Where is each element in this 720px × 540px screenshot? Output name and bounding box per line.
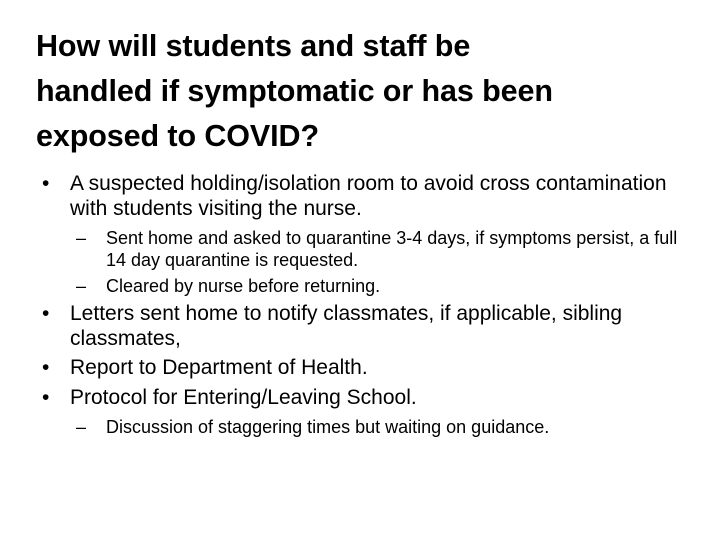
dash-marker-icon: – bbox=[76, 275, 86, 297]
dash-marker-icon: – bbox=[76, 227, 86, 249]
title-line-3: exposed to COVID? bbox=[36, 114, 686, 159]
sub-bullet-list: – Discussion of staggering times but wai… bbox=[70, 416, 696, 438]
slide: How will students and staff be handled i… bbox=[0, 0, 720, 540]
sub-bullet-list: – Sent home and asked to quarantine 3-4 … bbox=[70, 227, 696, 297]
list-item: • A suspected holding/isolation room to … bbox=[36, 172, 696, 297]
list-item-text: Letters sent home to notify classmates, … bbox=[70, 302, 688, 351]
bullet-marker-icon: • bbox=[42, 386, 49, 411]
sub-list-item-text: Discussion of staggering times but waiti… bbox=[106, 416, 684, 438]
title-line-1: How will students and staff be bbox=[36, 24, 686, 69]
list-item-text: Report to Department of Health. bbox=[70, 356, 670, 381]
sub-list-item: – Sent home and asked to quarantine 3-4 … bbox=[76, 227, 696, 271]
content-bullet-list: • A suspected holding/isolation room to … bbox=[36, 172, 696, 443]
list-item: • Letters sent home to notify classmates… bbox=[36, 302, 696, 351]
list-item-text: A suspected holding/isolation room to av… bbox=[70, 172, 670, 221]
sub-list-item: – Discussion of staggering times but wai… bbox=[76, 416, 696, 438]
list-item: • Protocol for Entering/Leaving School. … bbox=[36, 386, 696, 439]
title-line-2: handled if symptomatic or has been bbox=[36, 69, 686, 114]
sub-list-item-text: Sent home and asked to quarantine 3-4 da… bbox=[106, 227, 684, 271]
page-title: How will students and staff be handled i… bbox=[36, 24, 686, 159]
bullet-marker-icon: • bbox=[42, 356, 49, 381]
list-item: • Report to Department of Health. bbox=[36, 356, 696, 381]
list-item-text: Protocol for Entering/Leaving School. bbox=[70, 386, 670, 411]
sub-list-item-text: Cleared by nurse before returning. bbox=[106, 275, 684, 297]
dash-marker-icon: – bbox=[76, 416, 86, 438]
bullet-marker-icon: • bbox=[42, 172, 49, 197]
bullet-marker-icon: • bbox=[42, 302, 49, 327]
sub-list-item: – Cleared by nurse before returning. bbox=[76, 275, 696, 297]
